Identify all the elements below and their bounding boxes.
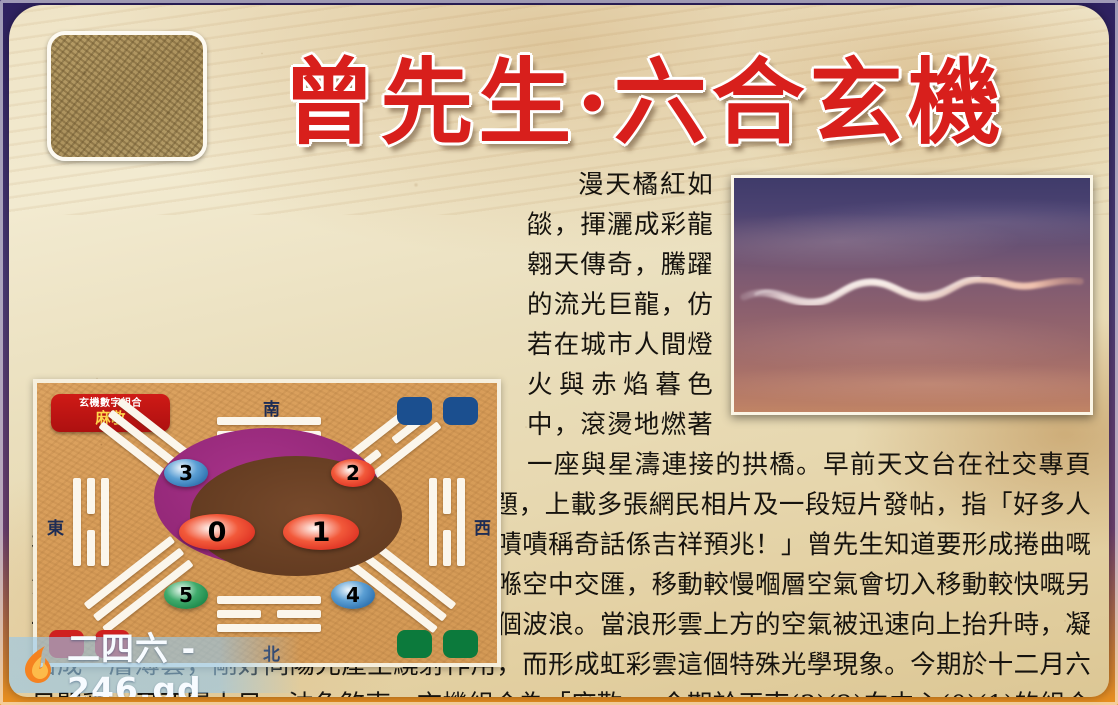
number-ball-1[interactable]: 1 xyxy=(283,514,359,550)
header: 曾先生·六合玄機 xyxy=(9,5,1109,167)
watermark-text: 二四六 - 246.gd xyxy=(67,622,301,698)
corner-chip-top-right-2 xyxy=(443,397,478,425)
trigram-east xyxy=(73,478,109,566)
number-ball-4[interactable]: 4 xyxy=(331,581,375,609)
page-title: 曾先生·六合玄機 xyxy=(214,29,1074,159)
trigram-west xyxy=(429,478,465,566)
number-ball-2[interactable]: 2 xyxy=(331,459,375,487)
corner-chip-bottom-right-2 xyxy=(443,630,478,658)
poster-page: 曾先生·六合玄機 xyxy=(0,0,1118,705)
wave-cloud-shape xyxy=(734,178,1090,412)
flame-logo xyxy=(15,642,61,688)
number-ball-0[interactable]: 0 xyxy=(179,514,255,550)
parchment-sheet: 曾先生·六合玄機 xyxy=(9,5,1109,697)
number-ball-3[interactable]: 3 xyxy=(164,459,208,487)
direction-label-west: 西 xyxy=(474,514,491,539)
direction-label-east: 東 xyxy=(47,514,64,539)
iridescent-wave-cloud-photo xyxy=(731,175,1093,415)
corner-chip-bottom-right-1 xyxy=(397,630,432,658)
number-ball-5[interactable]: 5 xyxy=(164,581,208,609)
site-watermark: 二四六 - 246.gd xyxy=(9,637,301,693)
corner-chip-top-right-1 xyxy=(397,397,432,425)
granite-texture-thumbnail xyxy=(47,31,207,161)
